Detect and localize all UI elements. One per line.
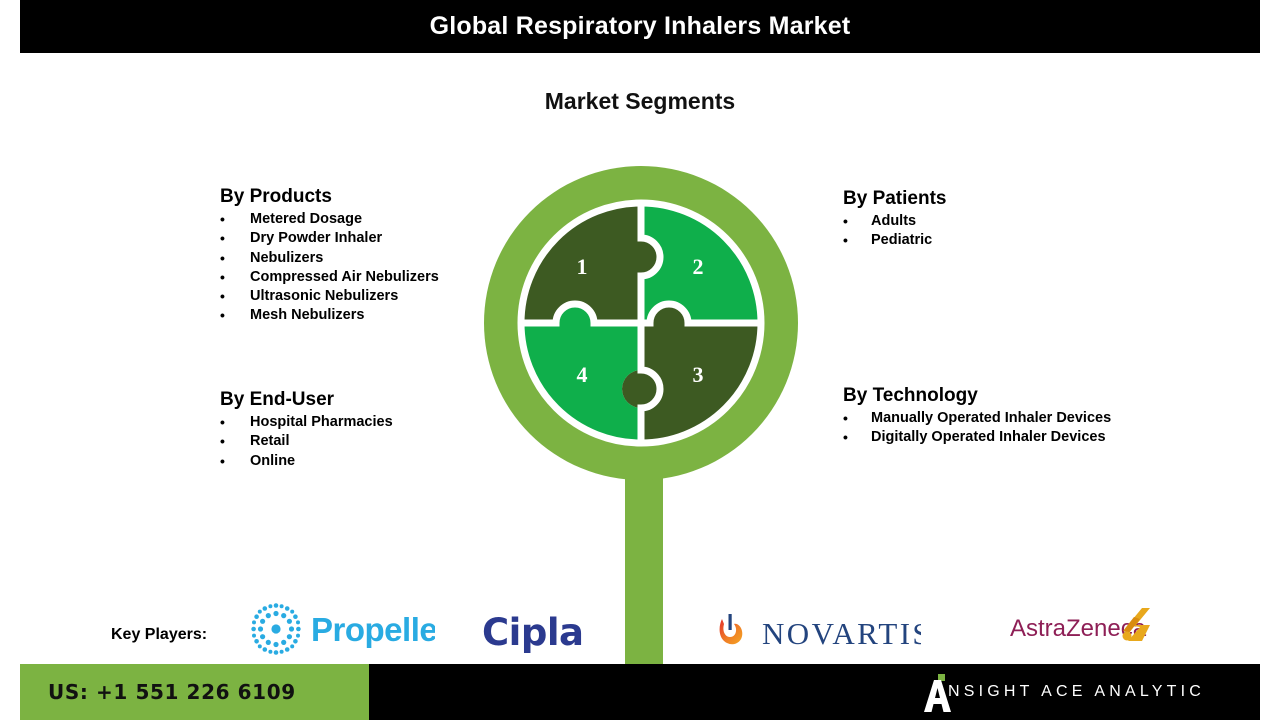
header-bar: Global Respiratory Inhalers Market bbox=[20, 0, 1260, 53]
bullet-icon: • bbox=[220, 452, 250, 471]
list-item-label: Compressed Air Nebulizers bbox=[250, 268, 439, 287]
section-heading: Market Segments bbox=[0, 88, 1280, 115]
infographic-page: Global Respiratory Inhalers Market Marke… bbox=[0, 0, 1280, 720]
list-item-label: Hospital Pharmacies bbox=[250, 413, 393, 432]
puzzle-number-3: 3 bbox=[693, 362, 704, 387]
bullet-icon: • bbox=[220, 229, 250, 248]
footer-contact-bar: US: +1 551 226 6109 bbox=[20, 664, 369, 720]
cipla-wordmark: Cipla bbox=[482, 612, 592, 654]
insight-ace-logo-icon bbox=[920, 674, 956, 712]
magnifier-svg: 1 2 3 4 bbox=[470, 150, 820, 670]
list-item-label: Metered Dosage bbox=[250, 210, 362, 229]
bullet-icon: • bbox=[220, 249, 250, 268]
footer-brand-name: INSIGHT ACE ANALYTIC bbox=[939, 683, 1260, 701]
bullet-icon: • bbox=[220, 268, 250, 287]
segment-title-technology: By Technology bbox=[843, 385, 1188, 407]
logo-novartis: NOVARTIS bbox=[716, 611, 921, 653]
segment-by-patients: By Patients •Adults •Pediatric bbox=[843, 188, 1173, 251]
puzzle-number-1: 1 bbox=[577, 254, 588, 279]
segment-list-technology: •Manually Operated Inhaler Devices •Digi… bbox=[843, 409, 1188, 448]
bullet-icon: • bbox=[220, 432, 250, 451]
puzzle-number-2: 2 bbox=[693, 254, 704, 279]
bullet-icon: • bbox=[843, 409, 871, 428]
bullet-icon: • bbox=[843, 231, 871, 250]
bullet-icon: • bbox=[220, 413, 250, 432]
bullet-icon: • bbox=[220, 287, 250, 306]
novartis-wordmark: NOVARTIS bbox=[762, 616, 921, 651]
logo-astrazeneca: AstraZeneca bbox=[1010, 603, 1155, 648]
bullet-icon: • bbox=[220, 306, 250, 325]
page-title: Global Respiratory Inhalers Market bbox=[430, 12, 851, 41]
bullet-icon: • bbox=[843, 428, 871, 447]
list-item: •Adults bbox=[843, 212, 1173, 231]
list-item-label: Digitally Operated Inhaler Devices bbox=[871, 428, 1106, 447]
list-item-label: Dry Powder Inhaler bbox=[250, 229, 382, 248]
list-item-label: Ultrasonic Nebulizers bbox=[250, 287, 398, 306]
logo-cipla: Cipla bbox=[482, 612, 592, 654]
astrazeneca-logo-svg: AstraZeneca bbox=[1010, 603, 1155, 648]
list-item: •Pediatric bbox=[843, 231, 1173, 250]
list-item-label: Nebulizers bbox=[250, 249, 323, 268]
segment-title-patients: By Patients bbox=[843, 188, 1173, 210]
list-item: •Digitally Operated Inhaler Devices bbox=[843, 428, 1188, 447]
footer-phone-number[interactable]: US: +1 551 226 6109 bbox=[20, 680, 296, 704]
propeller-dot-icon bbox=[251, 603, 300, 655]
list-item: •Manually Operated Inhaler Devices bbox=[843, 409, 1188, 428]
footer-brand-bar: INSIGHT ACE ANALYTIC bbox=[369, 664, 1260, 720]
list-item-label: Manually Operated Inhaler Devices bbox=[871, 409, 1111, 428]
puzzle-number-4: 4 bbox=[577, 362, 588, 387]
propeller-logo-svg: Propeller bbox=[245, 600, 435, 658]
list-item-label: Retail bbox=[250, 432, 290, 451]
propeller-wordmark: Propeller bbox=[311, 611, 435, 648]
list-item-label: Adults bbox=[871, 212, 916, 231]
novartis-flame-icon bbox=[720, 614, 743, 644]
segment-list-patients: •Adults •Pediatric bbox=[843, 212, 1173, 251]
magnifier-puzzle-graphic: 1 2 3 4 bbox=[470, 150, 820, 670]
bullet-icon: • bbox=[843, 212, 871, 231]
bullet-icon: • bbox=[220, 210, 250, 229]
key-players-label: Key Players: bbox=[111, 626, 207, 644]
segment-by-technology: By Technology •Manually Operated Inhaler… bbox=[843, 385, 1188, 448]
list-item-label: Mesh Nebulizers bbox=[250, 306, 364, 325]
logo-propeller: Propeller bbox=[245, 600, 435, 658]
list-item-label: Pediatric bbox=[871, 231, 932, 250]
magnifier-handle bbox=[625, 450, 663, 670]
novartis-logo-svg: NOVARTIS bbox=[716, 611, 921, 653]
list-item-label: Online bbox=[250, 452, 295, 471]
